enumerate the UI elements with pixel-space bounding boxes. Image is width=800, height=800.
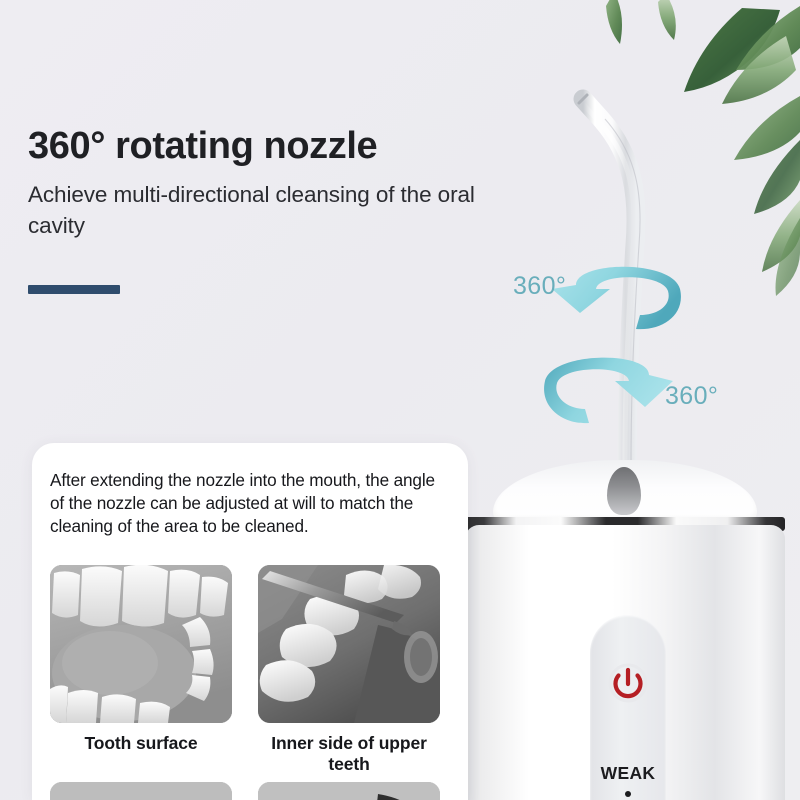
thumbnail-image-row2-right[interactable]	[258, 782, 440, 800]
thumbnail-grid: Tooth surface	[50, 565, 454, 774]
page-subtitle: Achieve multi-directional cleansing of t…	[28, 179, 488, 241]
mode-indicator-weak	[625, 791, 631, 797]
mode-label-weak: WEAK	[590, 763, 666, 784]
leaf-small-group	[606, 0, 676, 44]
info-card-text: After extending the nozzle into the mout…	[32, 443, 468, 539]
power-icon[interactable]	[606, 661, 650, 710]
accent-bar	[28, 285, 120, 294]
product-feature-page: 360° rotating nozzle Achieve multi-direc…	[0, 0, 800, 800]
thumbnail-grid-row2	[50, 782, 454, 800]
thumbnail-caption-tooth-surface: Tooth surface	[50, 733, 232, 754]
rotation-arrow-lower-icon	[525, 345, 685, 455]
rotation-label-lower: 360°	[665, 382, 718, 411]
thumbnail-caption-inner-upper-teeth: Inner side of upper teeth	[258, 733, 440, 774]
thumbnail-cell-tooth-surface: Tooth surface	[50, 565, 232, 774]
thumbnail-image-tooth-surface[interactable]	[50, 565, 232, 723]
control-panel[interactable]: WEAK STRONG	[590, 615, 666, 800]
headline-block: 360° rotating nozzle Achieve multi-direc…	[28, 127, 498, 241]
thumbnail-image-inner-upper-teeth[interactable]	[258, 565, 440, 723]
rotation-label-upper: 360°	[513, 272, 566, 301]
thumbnail-cell-inner-upper-teeth: Inner side of upper teeth	[258, 565, 440, 774]
page-title: 360° rotating nozzle	[28, 127, 498, 167]
info-card: After extending the nozzle into the mout…	[32, 443, 468, 800]
thumbnail-image-row2-left[interactable]	[50, 782, 232, 800]
